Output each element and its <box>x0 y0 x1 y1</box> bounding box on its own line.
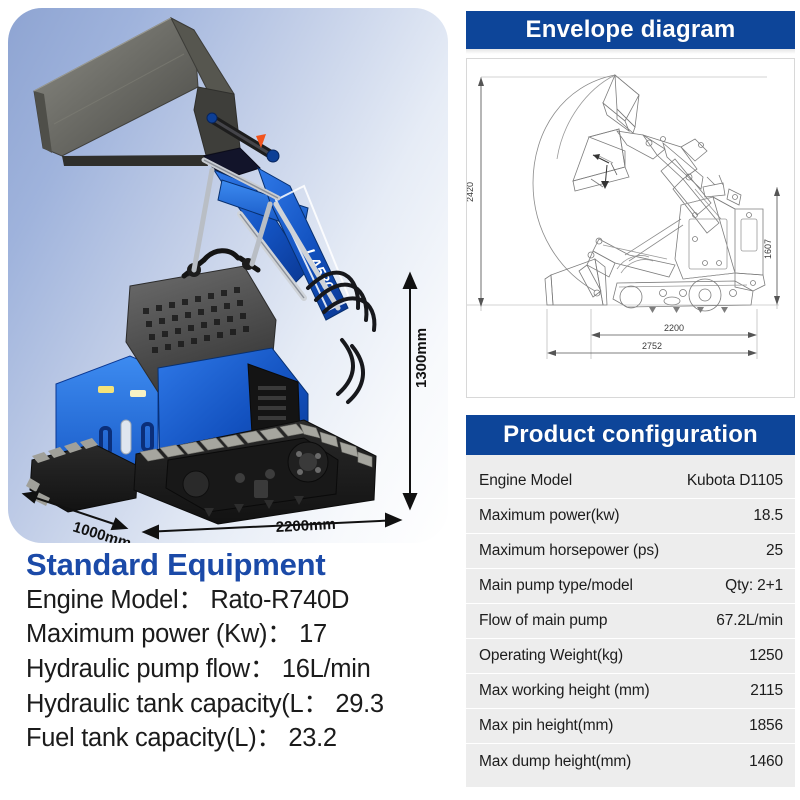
table-row: Operating Weight(kg) 1250 <box>466 639 795 674</box>
bucket <box>34 18 240 166</box>
envelope-diagram-frame: 2420 1607 2200 2752 <box>466 58 795 398</box>
standard-equipment-line-2: Maximum power (Kw)： 17 <box>26 617 456 652</box>
table-cell-value: 18.5 <box>753 507 783 525</box>
envelope-diagram-header: Envelope diagram <box>466 11 795 49</box>
table-row: Maximum power(kw) 18.5 <box>466 499 795 534</box>
table-cell-value: 67.2L/min <box>716 612 783 630</box>
dimension-length-label: 2200mm <box>275 516 336 536</box>
standard-equipment-line-4: Hydraulic tank capacity(L： 29.3 <box>26 687 456 722</box>
envelope-dim-1607: 1607 <box>763 239 773 259</box>
table-cell-key: Max pin height(mm) <box>479 717 613 735</box>
table-cell-value: Qty: 2+1 <box>725 577 783 595</box>
envelope-dim-2420: 2420 <box>467 182 475 202</box>
table-cell-key: Maximum horsepower (ps) <box>479 542 659 560</box>
table-cell-value: Kubota D1105 <box>687 472 783 490</box>
table-cell-key: Engine Model <box>479 472 572 490</box>
table-cell-value: 1856 <box>749 717 783 735</box>
standard-equipment-line-5: Fuel tank capacity(L)： 23.2 <box>26 721 456 756</box>
table-row: Max pin height(mm) 1856 <box>466 709 795 744</box>
envelope-header-shadow <box>466 49 795 54</box>
envelope-technical-drawing: 2420 1607 2200 2752 <box>467 59 794 397</box>
table-cell-key: Max working height (mm) <box>479 682 650 700</box>
dimension-height-label: 1300mm <box>413 328 430 388</box>
dimension-width-label: 1000mm <box>71 519 133 543</box>
table-row: Max dump height(mm) 1460 <box>466 744 795 779</box>
table-row: Engine Model Kubota D1105 <box>466 464 795 499</box>
table-row: Max working height (mm) 2115 <box>466 674 795 709</box>
product-configuration-header-label: Product configuration <box>503 421 758 449</box>
envelope-dim-2200: 2200 <box>664 323 684 333</box>
table-cell-value: 25 <box>766 542 783 560</box>
table-row: Maximum horsepower (ps) 25 <box>466 534 795 569</box>
table-cell-value: 1460 <box>749 753 783 771</box>
table-cell-key: Max dump height(mm) <box>479 753 631 771</box>
table-row: Main pump type/model Qty: 2+1 <box>466 569 795 604</box>
table-cell-key: Main pump type/model <box>479 577 633 595</box>
table-cell-key: Operating Weight(kg) <box>479 647 623 665</box>
table-row: Flow of main pump 67.2L/min <box>466 604 795 639</box>
product-configuration-header: Product configuration <box>466 415 795 455</box>
table-cell-value: 1250 <box>749 647 783 665</box>
envelope-dim-2752: 2752 <box>642 341 662 351</box>
standard-equipment-block: Standard Equipment Engine Model： Rato-R7… <box>26 548 456 756</box>
envelope-diagram-header-label: Envelope diagram <box>526 16 736 44</box>
standard-equipment-line-3: Hydraulic pump flow： 16L/min <box>26 652 456 687</box>
mini-skid-steer-loader-illustration: LA580 <box>8 8 448 543</box>
standard-equipment-line-1: Engine Model： Rato-R740D <box>26 583 456 618</box>
standard-equipment-title: Standard Equipment <box>26 548 456 583</box>
table-cell-key: Flow of main pump <box>479 612 607 630</box>
product-spec-sheet: LA580 <box>0 0 800 800</box>
product-photo-panel: LA580 <box>8 8 448 543</box>
table-cell-value: 2115 <box>750 682 783 700</box>
table-cell-key: Maximum power(kw) <box>479 507 619 525</box>
product-configuration-table: Engine Model Kubota D1105 Maximum power(… <box>466 455 795 787</box>
